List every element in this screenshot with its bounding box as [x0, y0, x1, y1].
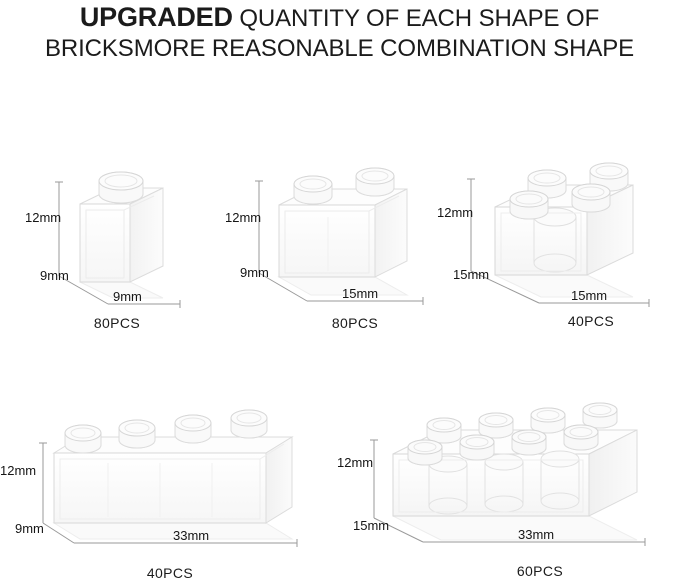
brick-item-1x4: 12mm 9mm 33mm 40PCS	[2, 405, 332, 585]
stud	[99, 172, 143, 203]
brick-body-2x2	[495, 163, 633, 297]
dimension-width-1x4: 33mm	[173, 528, 209, 543]
title-remainder: QUANTITY OF EACH SHAPE OF	[233, 5, 599, 32]
title-line-1: UPGRADED QUANTITY OF EACH SHAPE OF	[0, 4, 679, 35]
stud	[460, 435, 494, 460]
brick-item-1x1: 12mm 9mm 9mm 80PCS	[28, 170, 218, 340]
brick-illustration-2x4	[345, 400, 679, 550]
brick-body-1x4	[54, 410, 292, 539]
title-emphasis: UPGRADED	[80, 2, 233, 32]
brick-item-1x2: 12mm 9mm 15mm 80PCS	[225, 165, 445, 340]
quantity-label-1x1: 80PCS	[72, 315, 162, 331]
dimension-depth-2x2: 15mm	[453, 267, 489, 282]
stud	[510, 191, 548, 219]
quantity-label-1x4: 40PCS	[125, 565, 215, 581]
stud	[531, 408, 565, 433]
dimension-width-1x2: 15mm	[342, 286, 378, 301]
dimension-width-2x2: 15mm	[571, 288, 607, 303]
dimension-depth-1x4: 9mm	[15, 521, 44, 536]
stud	[583, 403, 617, 428]
dimension-width-1x1: 9mm	[113, 289, 142, 304]
dimension-width-2x4: 33mm	[518, 527, 554, 542]
stud	[356, 168, 394, 196]
stud	[564, 425, 598, 450]
page-title: UPGRADED QUANTITY OF EACH SHAPE OF BRICK…	[0, 4, 679, 62]
dimension-height-2x4: 12mm	[337, 455, 373, 470]
dimension-height-1x2: 12mm	[225, 210, 261, 225]
title-line-2: BRICKSMORE REASONABLE COMBINATION SHAPE	[0, 35, 679, 62]
stud	[512, 430, 546, 455]
dimension-height-1x4: 12mm	[0, 463, 36, 478]
quantity-label-1x2: 80PCS	[310, 315, 400, 331]
stud	[231, 410, 267, 438]
stud	[479, 413, 513, 438]
brick-illustration-2x2	[443, 155, 679, 310]
quantity-label-2x2: 40PCS	[546, 313, 636, 329]
brick-illustration-1x2	[225, 165, 445, 310]
stud	[65, 425, 101, 453]
stud	[119, 420, 155, 448]
stud	[175, 415, 211, 443]
brick-item-2x4: 12mm 15mm 33mm 60PCS	[345, 400, 679, 585]
brick-body-1x2	[279, 168, 407, 295]
brick-body-2x4	[393, 403, 637, 540]
dimension-depth-2x4: 15mm	[353, 518, 389, 533]
brick-item-2x2: 12mm 15mm 15mm 40PCS	[443, 155, 679, 340]
stud	[572, 184, 610, 212]
stud	[294, 176, 332, 204]
stud	[427, 418, 461, 443]
dimension-depth-1x1: 9mm	[40, 268, 69, 283]
dimension-height-1x1: 12mm	[25, 210, 61, 225]
dimension-height-2x2: 12mm	[437, 205, 473, 220]
brick-illustration-1x4	[2, 405, 332, 555]
dimension-depth-1x2: 9mm	[240, 265, 269, 280]
stud	[408, 440, 442, 465]
quantity-label-2x4: 60PCS	[495, 563, 585, 579]
brick-body-1x1	[80, 172, 163, 298]
